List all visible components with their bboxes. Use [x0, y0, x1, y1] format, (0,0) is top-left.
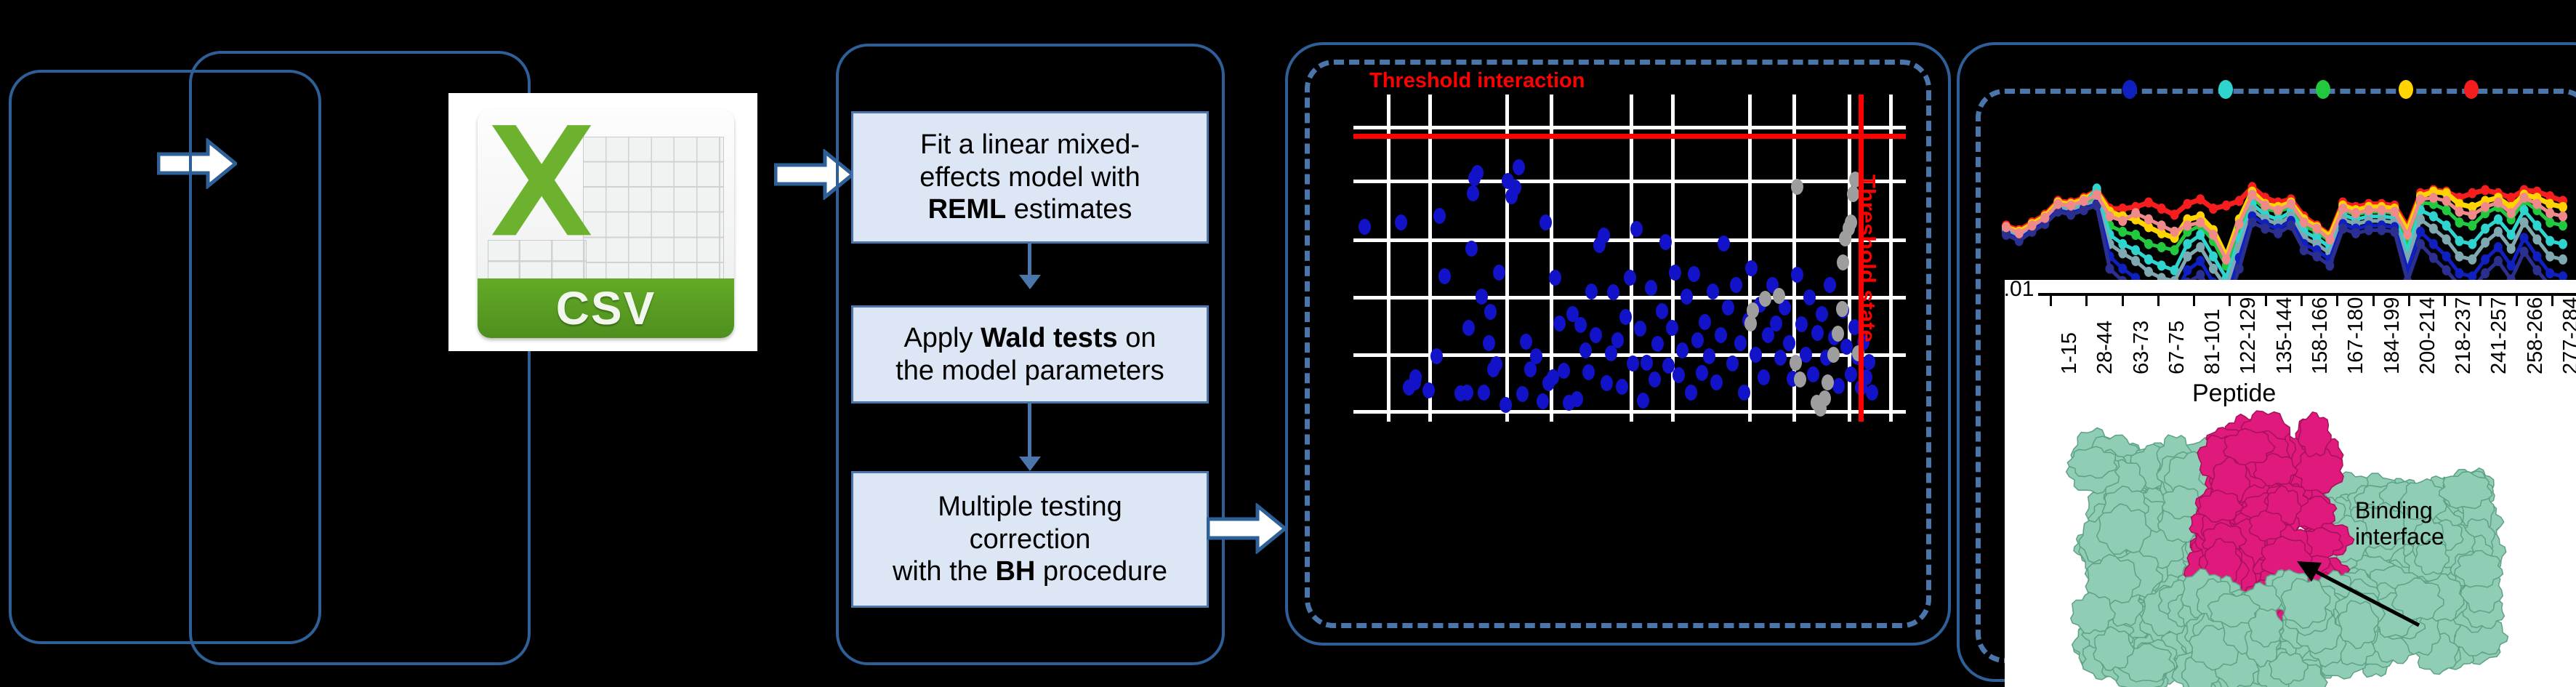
scatter-point	[1673, 367, 1685, 383]
gridline-horizontal	[1353, 126, 1906, 129]
scatter-point	[1493, 265, 1505, 281]
legend-dot-cyan	[2218, 80, 2233, 99]
threshold-interaction-line	[1353, 134, 1906, 139]
wald-line1c: on	[1118, 323, 1156, 353]
x-axis-tick	[2444, 296, 2446, 306]
scatter-point	[1574, 317, 1587, 333]
scatter-point	[1707, 284, 1719, 300]
x-axis-tick	[2122, 296, 2124, 306]
scatter-point	[1824, 277, 1836, 293]
connector-1	[1028, 244, 1031, 276]
scatter-point	[1462, 320, 1475, 336]
gridline-vertical	[1387, 95, 1390, 422]
binding-interface-line1: Binding	[2355, 498, 2444, 524]
gridline-horizontal	[1353, 180, 1906, 183]
protein-surface-render	[2026, 407, 2535, 687]
scatter-point	[1571, 391, 1583, 407]
x-axis-tick	[2050, 296, 2052, 306]
scatter-point	[1758, 369, 1770, 385]
arrow-stats-to-volcano	[1207, 503, 1287, 554]
connector-2	[1028, 403, 1031, 458]
scatter-point	[1539, 214, 1552, 230]
scatter-point	[1703, 348, 1715, 364]
scatter-point	[1500, 397, 1512, 413]
scatter-point	[1840, 339, 1853, 355]
scatter-point	[1795, 316, 1808, 332]
scatter-point	[1649, 371, 1661, 387]
bh-emphasis: BH	[995, 556, 1035, 587]
scatter-point	[1773, 288, 1785, 304]
gridline-vertical	[1630, 95, 1633, 422]
scatter-point	[1681, 289, 1693, 305]
peptide-range-label: 258-266	[2524, 297, 2548, 374]
scatter-point	[1866, 385, 1878, 401]
scatter-point	[1656, 303, 1668, 319]
scatter-point	[1483, 335, 1495, 351]
scatter-point	[1811, 325, 1824, 341]
scatter-point	[1791, 267, 1803, 283]
volcano-plot: Threshold state	[1353, 95, 1906, 422]
wald-tests-box[interactable]: Apply Wald tests on the model parameters	[851, 305, 1209, 403]
scatter-point	[1619, 309, 1632, 325]
peptide-range-label: 158-166	[2309, 297, 2333, 374]
scatter-point	[1549, 270, 1561, 286]
scatter-point	[1645, 280, 1657, 296]
scatter-point	[1547, 369, 1559, 385]
scatter-point	[1715, 327, 1727, 343]
fit-model-box[interactable]: Fit a linear mixed- effects model with R…	[851, 111, 1209, 244]
peptide-range-label: 135-144	[2273, 297, 2297, 374]
scatter-point	[1637, 393, 1649, 409]
scatter-point	[1696, 365, 1708, 381]
x-axis-tick	[2336, 296, 2338, 306]
scatter-point	[1790, 355, 1802, 371]
scatter-point	[1659, 234, 1672, 250]
scatter-point	[1641, 355, 1653, 371]
scatter-point	[1359, 219, 1371, 235]
scatter-point	[1461, 385, 1473, 401]
scatter-point	[1718, 236, 1730, 252]
scatter-point	[1520, 334, 1532, 350]
binding-interface-line2: interface	[2355, 524, 2444, 550]
gridline-horizontal	[1353, 238, 1906, 242]
gridline-vertical	[1428, 95, 1432, 422]
scatter-point	[1630, 221, 1643, 237]
x-axis-tick	[2301, 296, 2303, 306]
peptide-range-label: 63-73	[2130, 321, 2154, 374]
scatter-point	[1710, 374, 1723, 390]
scatter-point	[1669, 265, 1681, 281]
peptide-range-label: 241-257	[2487, 297, 2511, 374]
reml-emphasis: REML	[928, 194, 1007, 225]
connector-1-arrowhead	[1019, 275, 1041, 289]
peptide-range-label: 122-129	[2237, 297, 2261, 374]
scatter-point	[1803, 289, 1816, 305]
scatter-point	[1516, 386, 1529, 402]
scatter-point	[1598, 228, 1610, 244]
scatter-point	[1476, 289, 1488, 305]
scatter-point	[1822, 374, 1834, 390]
scatter-point	[1651, 336, 1664, 352]
peptide-range-label: 277-284	[2559, 297, 2576, 374]
scatter-point	[1601, 375, 1613, 391]
legend-dot-yellow	[2399, 80, 2413, 99]
threshold-interaction-label: Threshold interaction	[1369, 69, 1585, 93]
scatter-point	[1819, 390, 1831, 406]
peptide-range-label: 1-15	[2058, 332, 2082, 374]
wald-emphasis: Wald tests	[981, 323, 1118, 353]
bh-line2: correction	[970, 524, 1091, 555]
scatter-point	[1582, 364, 1595, 380]
y-axis-tick-label: 0.01	[2005, 280, 2034, 302]
bh-line1: Multiple testing	[938, 491, 1122, 522]
scatter-point	[1471, 165, 1484, 181]
scatter-point	[1553, 316, 1566, 332]
gridline-vertical	[1889, 95, 1893, 422]
scatter-point	[1634, 321, 1646, 337]
scatter-point	[1745, 260, 1758, 276]
scatter-point	[1627, 355, 1639, 371]
scatter-point	[1666, 320, 1678, 336]
scatter-point	[1558, 363, 1570, 379]
scatter-point	[1807, 366, 1819, 382]
scatter-point	[1816, 306, 1828, 322]
connector-2-arrowhead	[1019, 457, 1041, 471]
threshold-state-label: Threshold state	[1854, 174, 1880, 342]
scatter-point	[1747, 302, 1759, 318]
scatter-point	[1579, 342, 1592, 358]
scatter-point	[1832, 326, 1844, 342]
peptide-range-label: 28-44	[2093, 321, 2117, 374]
scatter-point	[1726, 355, 1739, 371]
x-axis-tick	[2193, 296, 2195, 306]
scatter-point	[1832, 378, 1845, 394]
peptide-range-label: 200-214	[2416, 297, 2440, 374]
scatter-point	[1734, 335, 1747, 351]
scatter-point	[1770, 316, 1782, 332]
scatter-point	[1465, 241, 1478, 257]
binding-interface-annotation: Bindinginterface	[2355, 498, 2444, 550]
scatter-point	[1430, 348, 1443, 364]
scatter-point	[1759, 291, 1771, 307]
scatter-point	[1722, 300, 1734, 316]
scatter-point	[1590, 327, 1602, 343]
x-axis-tick	[2551, 296, 2553, 306]
fit-model-line3b: estimates	[1006, 194, 1132, 225]
legend-dot-green	[2316, 80, 2330, 99]
scatter-point	[1509, 180, 1521, 196]
csv-label: CSV	[478, 278, 734, 338]
wald-line1a: Apply	[903, 323, 981, 353]
scatter-point	[1845, 366, 1857, 382]
scatter-point	[1691, 332, 1704, 348]
bh-line3c: procedure	[1035, 556, 1167, 587]
scatter-point	[1478, 385, 1490, 401]
results-inset-card: 0.011-1528-4463-7367-7581-101122-129135-…	[2005, 280, 2576, 687]
scatter-point	[1863, 354, 1875, 370]
scatter-point	[1438, 268, 1451, 284]
scatter-point	[1688, 266, 1700, 282]
x-axis-tick	[2408, 296, 2410, 306]
x-axis-tick	[2229, 296, 2231, 306]
scatter-point	[1585, 284, 1598, 300]
x-axis-tick	[2157, 296, 2160, 306]
scatter-point	[1791, 179, 1803, 195]
fit-model-line1: Fit a linear mixed-	[920, 129, 1140, 160]
x-axis-tick	[2479, 296, 2482, 306]
x-axis-tick	[2085, 296, 2088, 306]
scatter-point	[1537, 393, 1549, 409]
scatter-point	[1794, 371, 1806, 387]
peptide-range-label: 81-101	[2201, 309, 2225, 374]
scatter-point	[1624, 270, 1636, 286]
peptide-range-label: 167-180	[2344, 297, 2368, 374]
scatter-point	[1827, 347, 1840, 363]
scatter-point	[1422, 382, 1435, 398]
bh-line3a: with the	[893, 556, 996, 587]
scatter-point	[1467, 185, 1479, 201]
x-axis-tick	[2516, 296, 2518, 306]
scatter-point	[1685, 385, 1697, 401]
gridline-vertical	[1505, 95, 1509, 422]
scatter-point	[1611, 332, 1624, 348]
scatter-point	[1395, 214, 1407, 230]
gridline-vertical	[1748, 95, 1752, 422]
gridline-horizontal	[1353, 296, 1906, 300]
scatter-point	[1676, 342, 1689, 358]
x-axis-line	[2038, 293, 2576, 296]
scatter-point	[1774, 350, 1787, 366]
legend-dot-red	[2464, 80, 2479, 99]
legend-dot-navy	[2122, 80, 2137, 99]
x-axis-tick	[2265, 296, 2267, 306]
scatter-point	[1530, 348, 1542, 364]
scatter-point	[1730, 277, 1742, 293]
scatter-point	[1490, 356, 1502, 372]
scatter-point	[1484, 304, 1497, 320]
scatter-point	[1605, 345, 1617, 361]
scatter-point	[1738, 385, 1750, 401]
multiple-testing-box[interactable]: Multiple testing correction with the BH …	[851, 471, 1209, 608]
scatter-point	[1836, 301, 1848, 317]
peptide-range-label: 184-199	[2380, 297, 2404, 374]
scatter-point	[1433, 208, 1446, 224]
fit-model-line2: effects model with	[919, 162, 1140, 193]
peptide-range-label: 67-75	[2165, 321, 2189, 374]
x-axis-title: Peptide	[2192, 379, 2276, 408]
scatter-point	[1699, 314, 1711, 330]
scatter-point	[1513, 159, 1525, 175]
peptide-range-label: 218-237	[2452, 297, 2476, 374]
scatter-point	[1750, 347, 1762, 363]
wald-line2: the model parameters	[895, 355, 1164, 386]
scatter-point	[1409, 369, 1422, 385]
csv-file-icon: CSV	[448, 93, 757, 351]
scatter-point	[1616, 379, 1628, 395]
x-axis-tick	[2372, 296, 2375, 306]
scatter-point	[1783, 335, 1795, 351]
